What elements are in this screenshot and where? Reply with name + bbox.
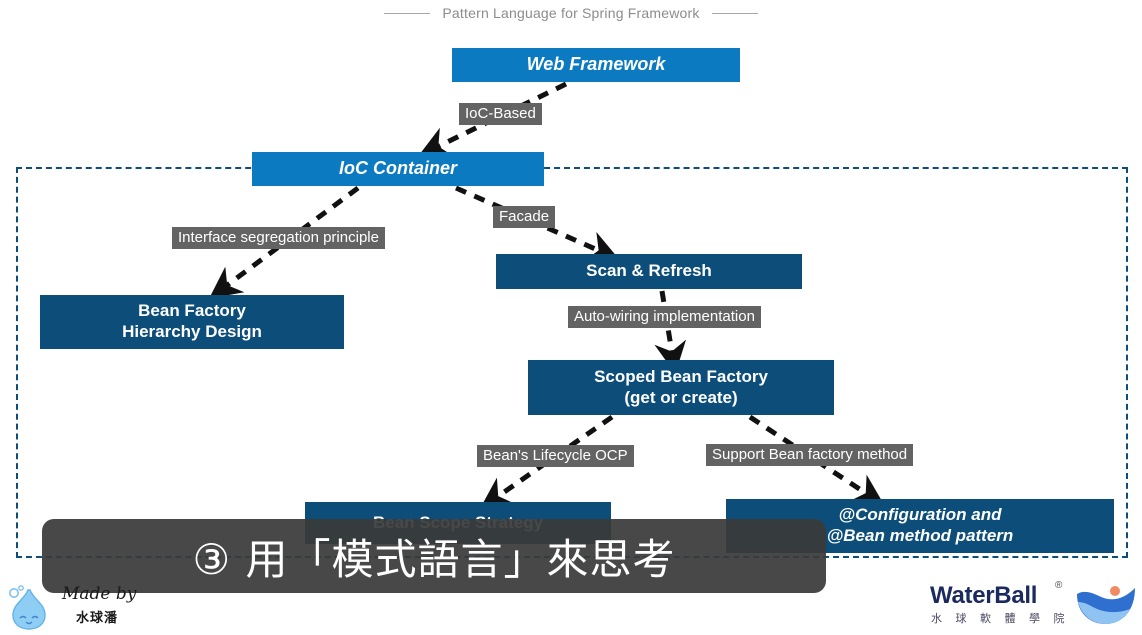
edge-label-ioc-based-text: IoC-Based	[465, 105, 536, 122]
node-web-framework-label: Web Framework	[527, 54, 666, 76]
brand-registered-mark: ®	[1055, 580, 1062, 591]
edge-label-auto-wiring-implementation: Auto-wiring implementation	[568, 306, 761, 328]
brand-subtitle: 水 球 軟 體 學 院	[931, 610, 1069, 626]
made-by-watermark: Made by 水球潘	[4, 584, 194, 634]
edge-label-autowiring-text: Auto-wiring implementation	[574, 308, 755, 325]
node-ioc-container-label: IoC Container	[339, 158, 457, 180]
node-scoped-bean-factory[interactable]: Scoped Bean Factory (get or create)	[528, 360, 834, 415]
node-scan-refresh-label: Scan & Refresh	[586, 261, 712, 282]
node-scan-refresh[interactable]: Scan & Refresh	[496, 254, 802, 289]
node-scoped-bean-factory-line2: (get or create)	[624, 388, 737, 409]
made-by-label: Made by	[62, 586, 192, 604]
edge-label-support-bean-factory-method: Support Bean factory method	[706, 444, 913, 466]
edge-label-interface-segregation-principle: Interface segregation principle	[172, 227, 385, 249]
node-web-framework[interactable]: Web Framework	[452, 48, 740, 82]
waterball-wave-logo-icon	[1075, 580, 1137, 626]
node-configuration-line1: @Configuration and	[839, 505, 1002, 526]
edge-label-isp-text: Interface segregation principle	[178, 229, 379, 246]
node-bean-factory-hierarchy-design[interactable]: Bean Factory Hierarchy Design	[40, 295, 344, 349]
node-bean-factory-line2: Hierarchy Design	[122, 322, 262, 343]
edge-label-facade-text: Facade	[499, 208, 549, 225]
node-scoped-bean-factory-line1: Scoped Bean Factory	[594, 367, 768, 388]
edge-label-ioc-based: IoC-Based	[459, 103, 542, 125]
overlay-banner-text: ③ 用「模式語言」來思考	[42, 519, 826, 593]
edge-label-factory-method-text: Support Bean factory method	[712, 446, 907, 463]
edge-label-facade: Facade	[493, 206, 555, 228]
water-drop-mascot-icon	[4, 584, 60, 632]
slide-canvas: Pattern Language for Spring Framework We…	[0, 0, 1142, 635]
node-ioc-container[interactable]: IoC Container	[252, 152, 544, 186]
brand-name: WaterBall	[930, 582, 1037, 610]
edge-label-lifecycle-text: Bean's Lifecycle OCP	[483, 447, 628, 464]
node-configuration-line2: @Bean method pattern	[827, 526, 1014, 547]
overlay-banner: ③ 用「模式語言」來思考	[42, 519, 826, 593]
edge-label-beans-lifecycle-ocp: Bean's Lifecycle OCP	[477, 445, 634, 467]
waterball-brand: WaterBall ® 水 球 軟 體 學 院	[925, 578, 1140, 630]
made-by-author: 水球潘	[76, 607, 118, 626]
node-bean-factory-line1: Bean Factory	[138, 301, 246, 322]
